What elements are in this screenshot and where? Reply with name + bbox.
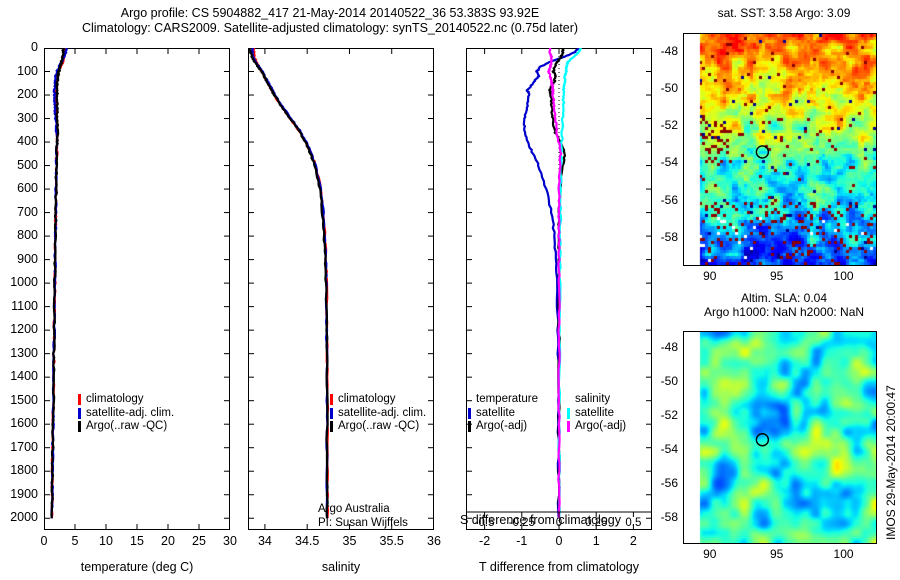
legend-label: Argo(..raw -QC) — [338, 420, 419, 434]
legend-item: satellite — [567, 407, 626, 421]
axis-tick-label: 15 — [130, 534, 144, 548]
axis-tick-label: 1900 — [0, 487, 38, 501]
axis-tick-label: -48 — [638, 44, 678, 58]
axis-tick-label: 95 — [770, 547, 783, 561]
axis-tick-label: -56 — [638, 476, 678, 490]
axis-tick-label: 36 — [427, 534, 441, 548]
legend-swatch-climatology — [330, 394, 333, 405]
axis-tick-label: 1700 — [0, 440, 38, 454]
axis-tick-label: 0 — [556, 517, 562, 529]
legend-swatch-argo-raw — [330, 421, 333, 432]
axis-tick-label: 100 — [834, 269, 854, 283]
legend-label: Argo(-adj) — [575, 420, 626, 434]
salinity-legend: climatology satellite-adj. clim. Argo(..… — [330, 393, 426, 434]
axis-tick-label: -54 — [638, 155, 678, 169]
legend-header: salinity — [575, 393, 610, 407]
axis-tick-label: 10 — [99, 534, 113, 548]
salinity-profile-plot — [248, 48, 434, 530]
legend-label: climatology — [86, 393, 144, 407]
axis-tick-label: 900 — [0, 252, 38, 266]
legend-label: satellite-adj. clim. — [86, 407, 174, 421]
sst-map-marker-layer — [684, 34, 876, 265]
legend-label: Argo(..raw -QC) — [86, 420, 167, 434]
legend-label: satellite — [476, 407, 515, 421]
axis-tick-label: 35.5 — [380, 534, 404, 548]
salinity-axis-label: salinity — [248, 560, 434, 574]
legend-header-row: temperature — [468, 393, 538, 407]
legend-swatch-satellite-adj — [330, 408, 333, 419]
axis-tick-label: -52 — [638, 118, 678, 132]
legend-item: Argo(..raw -QC) — [330, 420, 426, 434]
legend-header-row: salinity — [567, 393, 626, 407]
temperature-profile-plot — [44, 48, 230, 530]
axis-tick-label: -50 — [638, 374, 678, 388]
legend-label: satellite — [575, 407, 614, 421]
axis-tick-label: 800 — [0, 228, 38, 242]
title-line-2: Climatology: CARS2009. Satellite-adjuste… — [0, 21, 660, 36]
legend-item: climatology — [78, 393, 174, 407]
axis-tick-label: 0 — [556, 534, 563, 548]
axis-tick-label: -58 — [638, 230, 678, 244]
axis-tick-label: 1000 — [0, 275, 38, 289]
axis-tick-label: -0.25 — [509, 517, 535, 529]
axis-tick-label: 1 — [593, 534, 600, 548]
axis-tick-label: 20 — [161, 534, 175, 548]
temperature-legend: climatology satellite-adj. clim. Argo(..… — [78, 393, 174, 434]
legend-item: satellite-adj. clim. — [330, 407, 426, 421]
axis-tick-label: -50 — [638, 81, 678, 95]
axis-tick-label: 1800 — [0, 463, 38, 477]
axis-tick-label: 35 — [343, 534, 357, 548]
sst-map-title: sat. SST: 3.58 Argo: 3.09 — [676, 6, 892, 20]
axis-tick-label: 30 — [223, 534, 237, 548]
legend-item: Argo(-adj) — [468, 420, 538, 434]
argo-credit: Argo Australia PI: Susan Wijffels — [318, 503, 408, 530]
axis-tick-label: 2 — [630, 534, 637, 548]
legend-label: climatology — [338, 393, 396, 407]
difference-legend-temperature: temperature satellite Argo(-adj) — [468, 393, 538, 434]
sla-map-title: Altim. SLA: 0.04 Argo h1000: NaN h2000: … — [676, 291, 892, 319]
axis-tick-label: 300 — [0, 111, 38, 125]
axis-tick-label: 2000 — [0, 510, 38, 524]
axis-tick-label: 600 — [0, 181, 38, 195]
imos-timestamp: IMOS 29-May-2014 20:00:47 — [884, 385, 898, 540]
axis-tick-label: 500 — [0, 158, 38, 172]
sla-map-title-line-2: Argo h1000: NaN h2000: NaN — [676, 305, 892, 319]
legend-swatch-t-satellite — [468, 408, 471, 419]
axis-tick-label: -58 — [638, 510, 678, 524]
axis-tick-label: 90 — [703, 547, 716, 561]
legend-header: temperature — [476, 393, 538, 407]
axis-tick-label: 0 — [0, 40, 38, 54]
axis-tick-label: 1400 — [0, 369, 38, 383]
axis-tick-label: 100 — [834, 547, 854, 561]
axis-tick-label: 1300 — [0, 346, 38, 360]
axis-tick-label: 34.5 — [295, 534, 319, 548]
legend-swatch-satellite-adj — [78, 408, 81, 419]
legend-spacer — [567, 394, 570, 405]
argo-credit-line-1: Argo Australia — [318, 503, 408, 517]
axis-tick-label: -2 — [479, 534, 490, 548]
temperature-axis-label: temperature (deg C) — [44, 560, 230, 574]
title-line-1: Argo profile: CS 5904882_417 21-May-2014… — [0, 6, 660, 21]
axis-tick-label: 25 — [192, 534, 206, 548]
legend-swatch-argo-raw — [78, 421, 81, 432]
legend-item: satellite — [468, 407, 538, 421]
t-difference-axis-label: T difference from climatology — [466, 560, 652, 574]
axis-tick-label: -52 — [638, 408, 678, 422]
axis-tick-label: -54 — [638, 442, 678, 456]
axis-tick-label: 0 — [41, 534, 48, 548]
axis-tick-label: 95 — [770, 269, 783, 283]
axis-tick-label: 1100 — [0, 299, 38, 313]
legend-item: satellite-adj. clim. — [78, 407, 174, 421]
difference-profile-plot — [466, 48, 652, 530]
legend-label: Argo(-adj) — [476, 420, 527, 434]
legend-item: Argo(-adj) — [567, 420, 626, 434]
legend-item: climatology — [330, 393, 426, 407]
axis-tick-label: 1200 — [0, 322, 38, 336]
axis-tick-label: 1500 — [0, 393, 38, 407]
axis-tick-label: 0.25 — [585, 517, 607, 529]
axis-tick-label: -0.5 — [475, 517, 495, 529]
axis-tick-label: -1 — [516, 534, 527, 548]
legend-label: satellite-adj. clim. — [338, 407, 426, 421]
figure-title: Argo profile: CS 5904882_417 21-May-2014… — [0, 6, 660, 36]
axis-tick-label: -48 — [638, 340, 678, 354]
axis-tick-label: 90 — [703, 269, 716, 283]
axis-tick-label: -56 — [638, 193, 678, 207]
legend-swatch-climatology — [78, 394, 81, 405]
sla-map-marker-layer — [684, 332, 876, 543]
legend-swatch-s-satellite — [567, 408, 570, 419]
axis-tick-label: 34 — [258, 534, 272, 548]
axis-tick-label: 200 — [0, 87, 38, 101]
axis-tick-label: 700 — [0, 205, 38, 219]
legend-item: Argo(..raw -QC) — [78, 420, 174, 434]
difference-legend-salinity: salinity satellite Argo(-adj) — [567, 393, 626, 434]
sla-map-title-line-1: Altim. SLA: 0.04 — [676, 291, 892, 305]
legend-spacer — [468, 394, 471, 405]
axis-tick-label: 5 — [72, 534, 79, 548]
axis-tick-label: 1600 — [0, 416, 38, 430]
legend-swatch-t-argo-adj — [468, 421, 471, 432]
axis-tick-label: 100 — [0, 64, 38, 78]
legend-swatch-s-argo-adj — [567, 421, 570, 432]
axis-tick-label: 400 — [0, 134, 38, 148]
argo-credit-line-2: PI: Susan Wijffels — [318, 517, 408, 531]
